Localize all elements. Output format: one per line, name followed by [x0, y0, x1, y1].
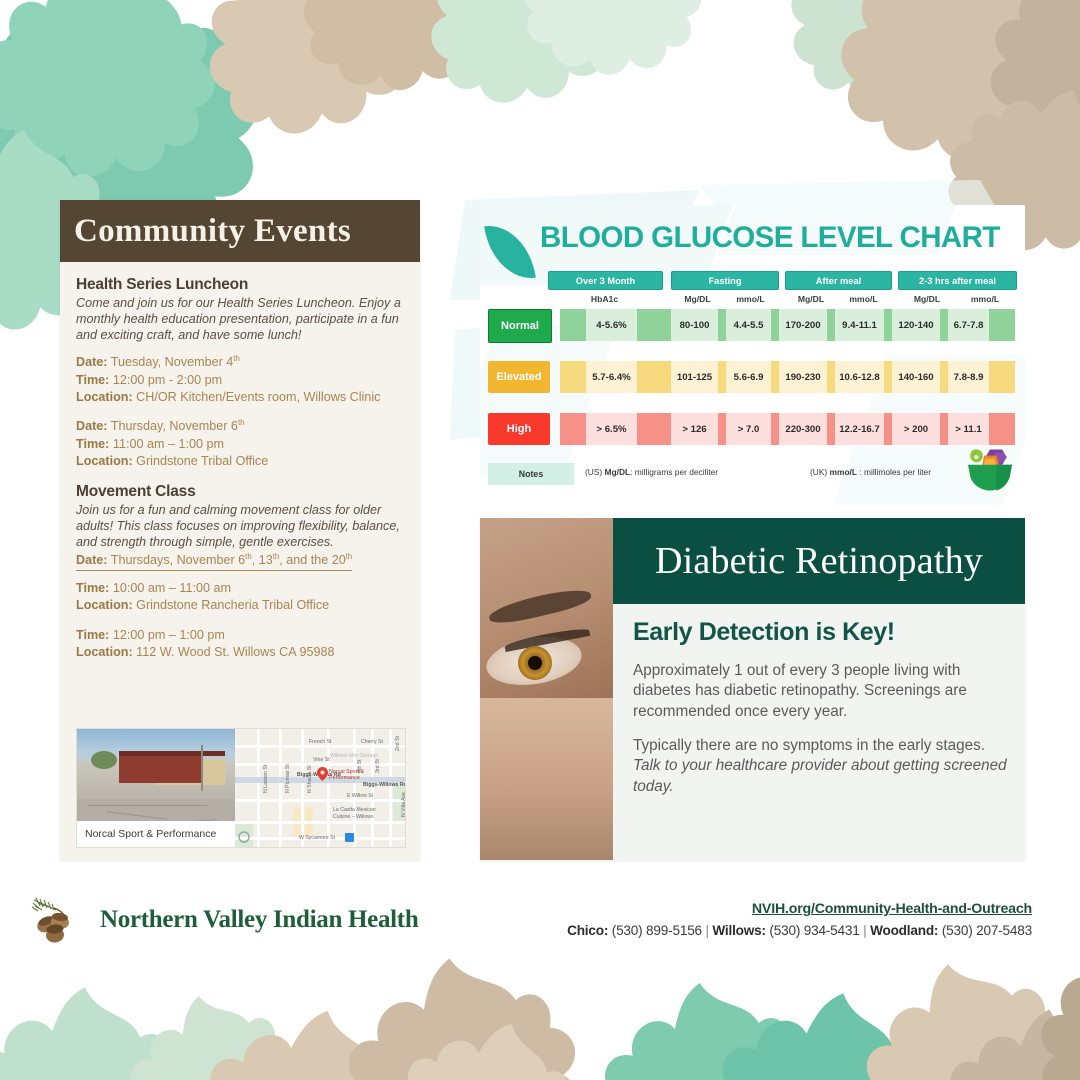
notes-us: (US) Mg/DL: milligrams per deciliter: [585, 467, 718, 477]
cell-value: 12.2-16.7: [835, 413, 884, 445]
retinopathy-paragraph-2-italic: Talk to your healthcare provider about g…: [633, 757, 1007, 794]
time-label: Time:: [76, 628, 109, 642]
unit-label: mmo/L: [724, 294, 777, 304]
phone-numbers: Chico: (530) 899-5156 | Willows: (530) 9…: [567, 923, 1032, 938]
map-label: La Casita Mexican Cuisine – Willows: [333, 807, 389, 820]
cell-value: 5.6-6.9: [726, 361, 771, 393]
retinopathy-subtitle: Early Detection is Key!: [633, 618, 1007, 647]
date-ordinal: th: [238, 418, 245, 427]
phone-city-chico: Chico:: [567, 923, 608, 938]
notes-us-text: : milligrams per deciliter: [630, 467, 718, 477]
event-time-row: Time: 11:00 am – 1:00 pm: [76, 436, 404, 453]
date-value: Thursdays, November 6: [111, 553, 245, 567]
retinopathy-paragraph-2: Typically there are no symptoms in the e…: [633, 736, 1007, 797]
cell-value: 4.4-5.5: [726, 309, 771, 341]
event-date-row: Date: Thursday, November 6th: [76, 418, 404, 436]
cell-value: 4-5.6%: [586, 309, 637, 341]
date-label: Date:: [76, 553, 108, 567]
cell-value: 220-300: [779, 413, 827, 445]
cell-value: > 11.1: [948, 413, 989, 445]
map-label: Vine St: [313, 757, 330, 763]
column-group-header: Fasting: [671, 271, 779, 290]
phone-city-woodland: Woodland:: [870, 923, 938, 938]
time-label: Time:: [76, 437, 109, 451]
location-label: Location:: [76, 454, 133, 468]
organization-logo: Northern Valley Indian Health: [30, 896, 418, 944]
cell-value: > 7.0: [726, 413, 771, 445]
cell-value: 9.4-11.1: [835, 309, 884, 341]
time-value: 11:00 am – 1:00 pm: [113, 437, 224, 451]
map-pin-icon: [317, 767, 328, 781]
row-label-high: High: [488, 413, 550, 445]
event-description: Come and join us for our Health Series L…: [76, 296, 404, 344]
notes-us-prefix: (US): [585, 467, 602, 477]
map-label: 2nd St: [395, 736, 401, 751]
unit-label: Mg/DL: [671, 294, 724, 304]
separator: |: [706, 923, 709, 938]
phone-number-willows: (530) 934-5431: [769, 923, 859, 938]
time-label: Time:: [76, 373, 109, 387]
map-label: W Sycamore St: [299, 835, 335, 841]
date-value: Thursday, November 6: [111, 419, 238, 433]
close-up-eye-photo: [480, 518, 613, 860]
notes-us-unit: Mg/DL: [605, 467, 631, 477]
venue-photo-caption: Norcal Sport & Performance: [77, 821, 235, 847]
date-value-2: , 13: [252, 553, 273, 567]
map-transit-icon: [345, 833, 354, 842]
chart-title: BLOOD GLUCOSE LEVEL CHART: [540, 221, 1000, 255]
date-ordinal: th: [233, 354, 240, 363]
cell-value: 80-100: [671, 309, 718, 341]
location-label: Location:: [76, 598, 133, 612]
cell-value: 6.7-7.8: [948, 309, 989, 341]
date-ordinal-3: th: [346, 552, 353, 561]
community-events-card: Community Events Health Series Luncheon …: [60, 200, 420, 860]
cell-value: 7.8-8.9: [948, 361, 989, 393]
event-location-row: Location: CH/OR Kitchen/Events room, Wil…: [76, 389, 404, 406]
date-label: Date:: [76, 355, 108, 369]
community-events-body: Health Series Luncheon Come and join us …: [60, 262, 420, 662]
notes-uk-prefix: (UK): [810, 467, 827, 477]
map-label: French St: [309, 739, 332, 745]
phone-city-willows: Willows:: [712, 923, 765, 938]
venue-location-map[interactable]: French St Cherry St Vine St Willows Mini…: [235, 729, 405, 847]
event-section-luncheon: Health Series Luncheon Come and join us …: [76, 276, 404, 471]
phone-number-woodland: (530) 207-5483: [942, 923, 1032, 938]
footer-contact: NVIH.org/Community-Health-and-Outreach C…: [567, 900, 1032, 938]
time-label: Time:: [76, 581, 109, 595]
map-label: N Plumas St: [285, 764, 291, 793]
phone-number-chico: (530) 899-5156: [612, 923, 702, 938]
row-label-normal: Normal: [488, 309, 552, 343]
cell-value: 101-125: [671, 361, 718, 393]
date-label: Date:: [76, 419, 108, 433]
time-value: 12:00 pm – 1:00 pm: [113, 628, 225, 642]
poster-canvas: Community Events Health Series Luncheon …: [0, 0, 1080, 1080]
cell-value: > 6.5%: [586, 413, 637, 445]
footer: Northern Valley Indian Health NVIH.org/C…: [0, 880, 1080, 960]
column-group-header: 2-3 hrs after meal: [898, 271, 1017, 290]
map-circle-icon: [238, 831, 250, 843]
venue-photo-map-strip[interactable]: Norcal Sport & Performance: [76, 728, 406, 848]
event-detail-block: Date: Thursday, November 6th Time: 11:00…: [76, 418, 404, 470]
unit-label: Mg/DL: [898, 294, 956, 304]
map-label: Willows Mini Storage: [330, 753, 378, 759]
event-detail-block: Time: 10:00 am – 11:00 am Location: Grin…: [76, 580, 404, 615]
event-section-movement-class: Movement Class Join us for a fun and cal…: [76, 483, 404, 662]
map-label: Biggs-Willows Rd: [363, 782, 405, 788]
cell-value: > 200: [892, 413, 940, 445]
map-label: E Willow St: [347, 793, 373, 799]
website-link[interactable]: NVIH.org/Community-Health-and-Outreach: [752, 901, 1032, 917]
diabetic-retinopathy-card: Diabetic Retinopathy Early Detection is …: [480, 518, 1025, 860]
cell-value: 5.7-6.4%: [586, 361, 637, 393]
date-value-3: , and the 20: [279, 553, 346, 567]
blood-glucose-level-chart: BLOOD GLUCOSE LEVEL CHART Over 3 Month F…: [480, 205, 1025, 505]
unit-label: mmo/L: [956, 294, 1014, 304]
notes-uk-text: : millimoles per liter: [857, 467, 931, 477]
map-label: N Villa Ave: [401, 792, 405, 817]
cell-value: 170-200: [779, 309, 827, 341]
event-date-row-underlined: Date: Thursdays, November 6th, 13th, and…: [76, 552, 404, 572]
map-label: N Lassen St: [263, 765, 269, 793]
cell-value: > 126: [671, 413, 718, 445]
event-location-row: Location: Grindstone Rancheria Tribal Of…: [76, 597, 404, 614]
cell-value: 190-230: [779, 361, 827, 393]
location-value: 112 W. Wood St. Willows CA 95988: [136, 645, 334, 659]
notes-uk-unit: mmo/L: [830, 467, 857, 477]
community-events-header: Community Events: [60, 200, 420, 262]
cell-value: 120-140: [892, 309, 940, 341]
event-description: Join us for a fun and calming movement c…: [76, 503, 404, 551]
event-time-row: Time: 12:00 pm – 1:00 pm: [76, 627, 404, 644]
acorn-pine-logo-icon: [30, 896, 92, 944]
page-title: Community Events: [74, 215, 351, 248]
retinopathy-banner: Diabetic Retinopathy: [613, 518, 1025, 604]
retinopathy-paragraph-2-plain: Typically there are no symptoms in the e…: [633, 737, 985, 754]
retinopathy-paragraph-1: Approximately 1 out of every 3 people li…: [633, 661, 1007, 722]
venue-street-photo: Norcal Sport & Performance: [77, 729, 235, 847]
separator: |: [863, 923, 866, 938]
event-detail-block: Time: 12:00 pm – 1:00 pm Location: 112 W…: [76, 627, 404, 662]
event-title: Health Series Luncheon: [76, 276, 404, 294]
location-label: Location:: [76, 645, 133, 659]
event-detail-block: Date: Tuesday, November 4th Time: 12:00 …: [76, 354, 404, 406]
retinopathy-title: Diabetic Retinopathy: [655, 542, 983, 580]
event-location-row: Location: Grindstone Tribal Office: [76, 453, 404, 470]
location-value: CH/OR Kitchen/Events room, Willows Clini…: [136, 390, 380, 404]
unit-label: Mg/DL: [785, 294, 837, 304]
cell-value: 140-160: [892, 361, 940, 393]
unit-label: mmo/L: [837, 294, 890, 304]
location-value: Grindstone Rancheria Tribal Office: [136, 598, 329, 612]
event-location-row: Location: 112 W. Wood St. Willows CA 959…: [76, 644, 404, 661]
event-title: Movement Class: [76, 483, 404, 501]
event-time-row: Time: 12:00 pm - 2:00 pm: [76, 372, 404, 389]
salad-bowl-icon: [967, 448, 1013, 492]
event-time-row: Time: 10:00 am – 11:00 am: [76, 580, 404, 597]
row-label-elevated: Elevated: [488, 361, 550, 393]
retinopathy-body: Early Detection is Key! Approximately 1 …: [613, 604, 1025, 860]
notes-label: Notes: [488, 463, 574, 485]
date-value: Tuesday, November 4: [111, 355, 234, 369]
map-label: N Shasta St: [307, 765, 313, 793]
cell-value: 10.6-12.8: [835, 361, 884, 393]
column-group-header: After meal: [785, 271, 892, 290]
map-label: Cherry St: [361, 739, 383, 745]
organization-name: Northern Valley Indian Health: [100, 906, 418, 934]
time-value: 12:00 pm - 2:00 pm: [113, 373, 222, 387]
time-value: 10:00 am – 11:00 am: [113, 581, 231, 595]
column-group-header: Over 3 Month: [548, 271, 663, 290]
event-date-row: Date: Tuesday, November 4th: [76, 354, 404, 372]
map-poi-label: Norcal Sport & Performance: [329, 769, 381, 781]
notes-uk: (UK) mmo/L : millimoles per liter: [810, 467, 931, 477]
location-label: Location:: [76, 390, 133, 404]
unit-label: HbA1c: [548, 294, 661, 304]
location-value: Grindstone Tribal Office: [136, 454, 268, 468]
